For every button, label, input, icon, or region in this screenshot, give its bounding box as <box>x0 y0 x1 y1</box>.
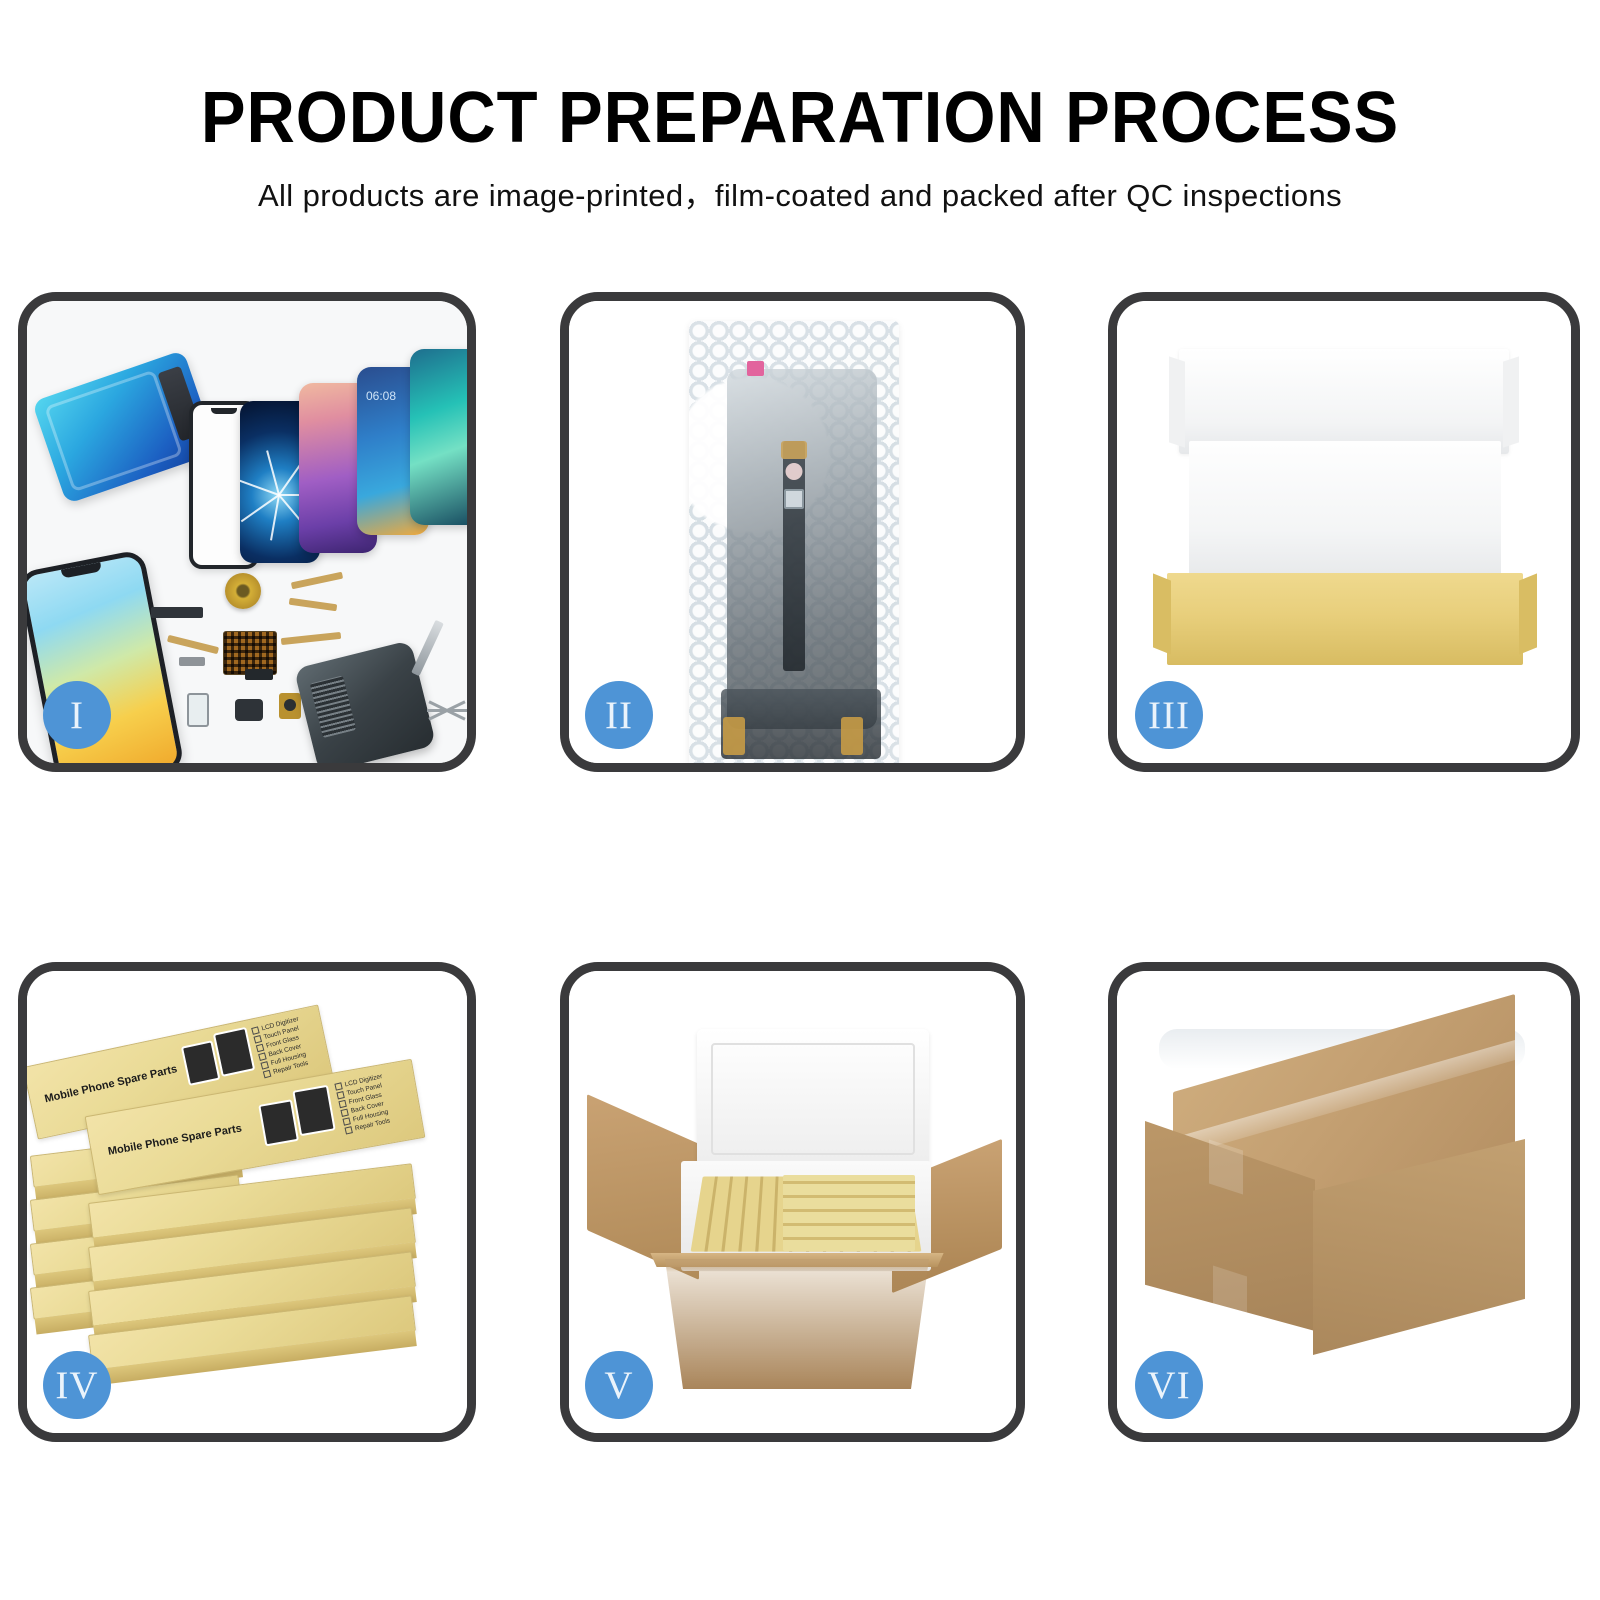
bubble-wrap-bag-image <box>689 321 899 763</box>
box-screen-graphic-3 <box>258 1099 299 1146</box>
gold-contact-image-2 <box>841 717 863 755</box>
flex-cable-image-3 <box>281 632 341 645</box>
small-part-image-1 <box>179 657 205 666</box>
box-label-title-2: Mobile Phone Spare Parts <box>107 1122 243 1157</box>
tweezers-image <box>427 699 467 723</box>
foam-liner-image <box>1189 441 1501 589</box>
flex-cable-image-1 <box>291 572 343 590</box>
step-badge-1: I <box>43 681 111 749</box>
carton-front-image <box>647 1259 947 1389</box>
process-steps-grid: 06:08 I <box>0 0 1600 1600</box>
repair-tool-image <box>411 620 444 676</box>
box-lid-image <box>1179 349 1509 454</box>
teal-phone-image <box>410 349 467 525</box>
camera-module-image <box>279 693 301 719</box>
gold-contact-image-1 <box>723 717 745 755</box>
step-panel-3[interactable]: III <box>1108 292 1580 772</box>
back-housing-image <box>294 640 437 763</box>
kraft-box-front-image <box>1167 573 1523 665</box>
small-part-image-2 <box>245 669 273 680</box>
flex-cable-image-4 <box>167 635 219 654</box>
foam-box-lid-image <box>697 1029 929 1169</box>
phone-clock-label: 06:08 <box>366 389 396 403</box>
lcd-connector-image <box>781 441 807 459</box>
pink-label-tab-image <box>747 361 764 376</box>
gold-boxes-row-image-2 <box>783 1175 915 1251</box>
box-screen-graphic-4 <box>292 1085 335 1137</box>
speaker-part-image <box>235 699 263 721</box>
box-checklist-1: LCD Digitizer Touch Panel Front Glass Ba… <box>251 1015 312 1080</box>
box-screen-graphic-1 <box>181 1040 221 1086</box>
step-panel-2[interactable]: II <box>560 292 1025 772</box>
home-button-image <box>786 463 803 480</box>
box-checklist-2: LCD Digitizer Touch Panel Front Glass Ba… <box>334 1072 393 1135</box>
box-label-title: Mobile Phone Spare Parts <box>43 1063 178 1105</box>
step-badge-3: III <box>1135 681 1203 749</box>
sim-tray-image <box>187 693 209 727</box>
box-screen-graphic-2 <box>213 1027 255 1077</box>
step-badge-6: VI <box>1135 1351 1203 1419</box>
wireless-charging-coil-image <box>225 573 261 609</box>
step-badge-2: II <box>585 681 653 749</box>
step-badge-4: IV <box>43 1351 111 1419</box>
step-panel-6[interactable]: VI <box>1108 962 1580 1442</box>
speaker-mesh-part-image <box>151 607 203 618</box>
lcd-ic-chip-image <box>784 489 804 509</box>
step-panel-1[interactable]: 06:08 I <box>18 292 476 772</box>
step-panel-4[interactable]: Mobile Phone Spare Parts LCD Digitizer T… <box>18 962 476 1442</box>
step-panel-5[interactable]: V <box>560 962 1025 1442</box>
step-badge-5: V <box>585 1351 653 1419</box>
flex-cable-image-2 <box>289 598 338 612</box>
